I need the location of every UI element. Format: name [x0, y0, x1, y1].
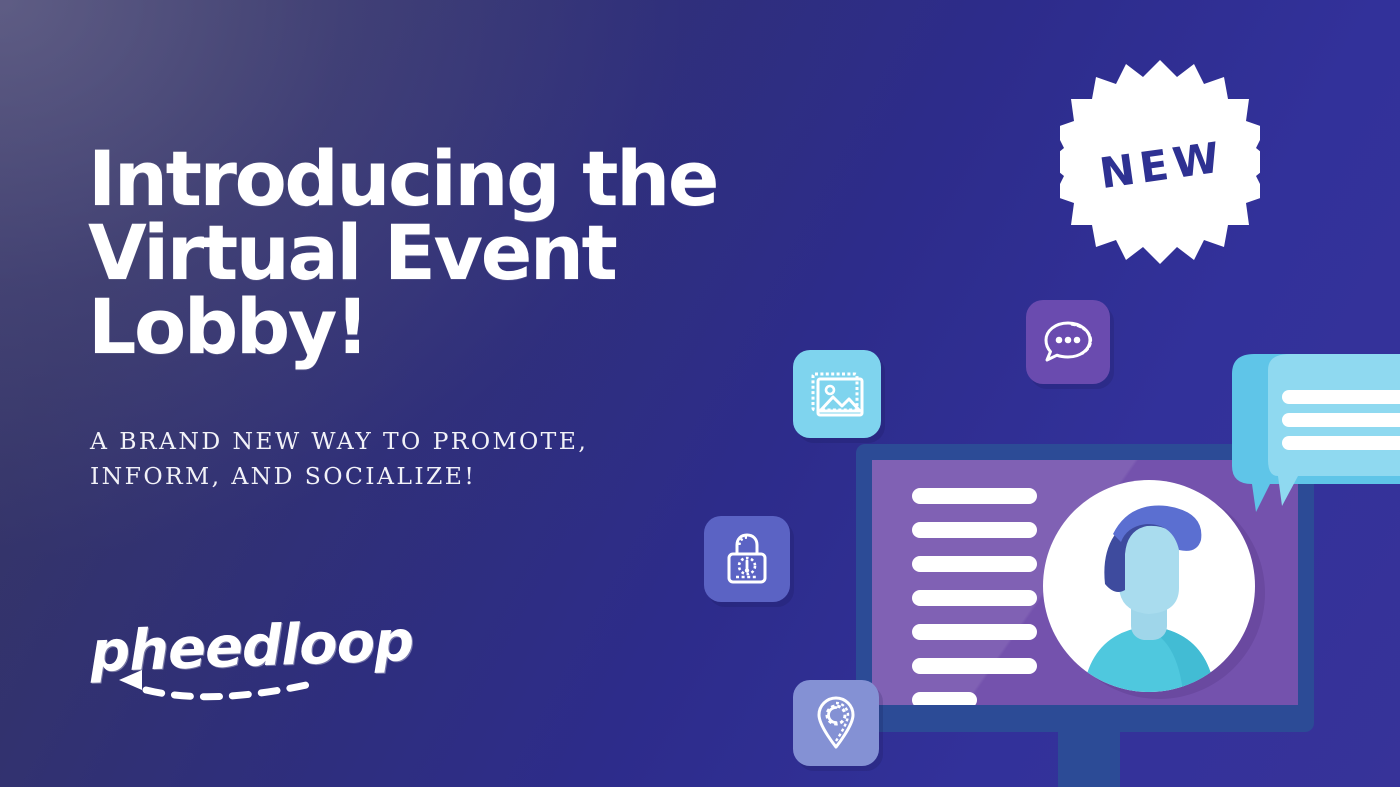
screen-text-lines: [912, 488, 1037, 705]
chat-line: [1282, 413, 1400, 427]
chat-line: [1282, 390, 1400, 404]
status-badge-label: NEW: [1046, 45, 1274, 286]
lock-tile[interactable]: [704, 516, 790, 602]
chat-bubble-icon: [1212, 348, 1400, 523]
chat-tile[interactable]: [1026, 300, 1110, 384]
image-tile[interactable]: [793, 350, 881, 438]
location-icon: [814, 696, 858, 750]
screen-line: [912, 556, 1037, 572]
announcement-banner: Introducing the Virtual Event Lobby! A b…: [0, 0, 1400, 787]
lock-icon: [724, 532, 770, 586]
screen-line: [912, 522, 1037, 538]
monitor-stand: [1058, 728, 1120, 787]
location-tile[interactable]: [793, 680, 879, 766]
pheedloop-logo: pheedloop: [86, 612, 336, 720]
status-badge: NEW: [1060, 58, 1260, 273]
screen-line: [912, 658, 1037, 674]
screen-line: [912, 590, 1037, 606]
image-icon: [810, 371, 864, 417]
logo-wordmark: pheedloop: [89, 612, 331, 685]
chat-bubble: [1212, 348, 1400, 523]
screen-line: [912, 488, 1037, 504]
chat-line: [1282, 436, 1400, 450]
logo-arrow-icon: [146, 684, 311, 697]
page-subtitle: A brand new way to promote, inform, and …: [90, 424, 710, 494]
screen-line: [912, 624, 1037, 640]
chat-icon: [1042, 319, 1094, 365]
page-title: Introducing the Virtual Event Lobby!: [88, 142, 748, 364]
screen-line: [912, 692, 977, 705]
